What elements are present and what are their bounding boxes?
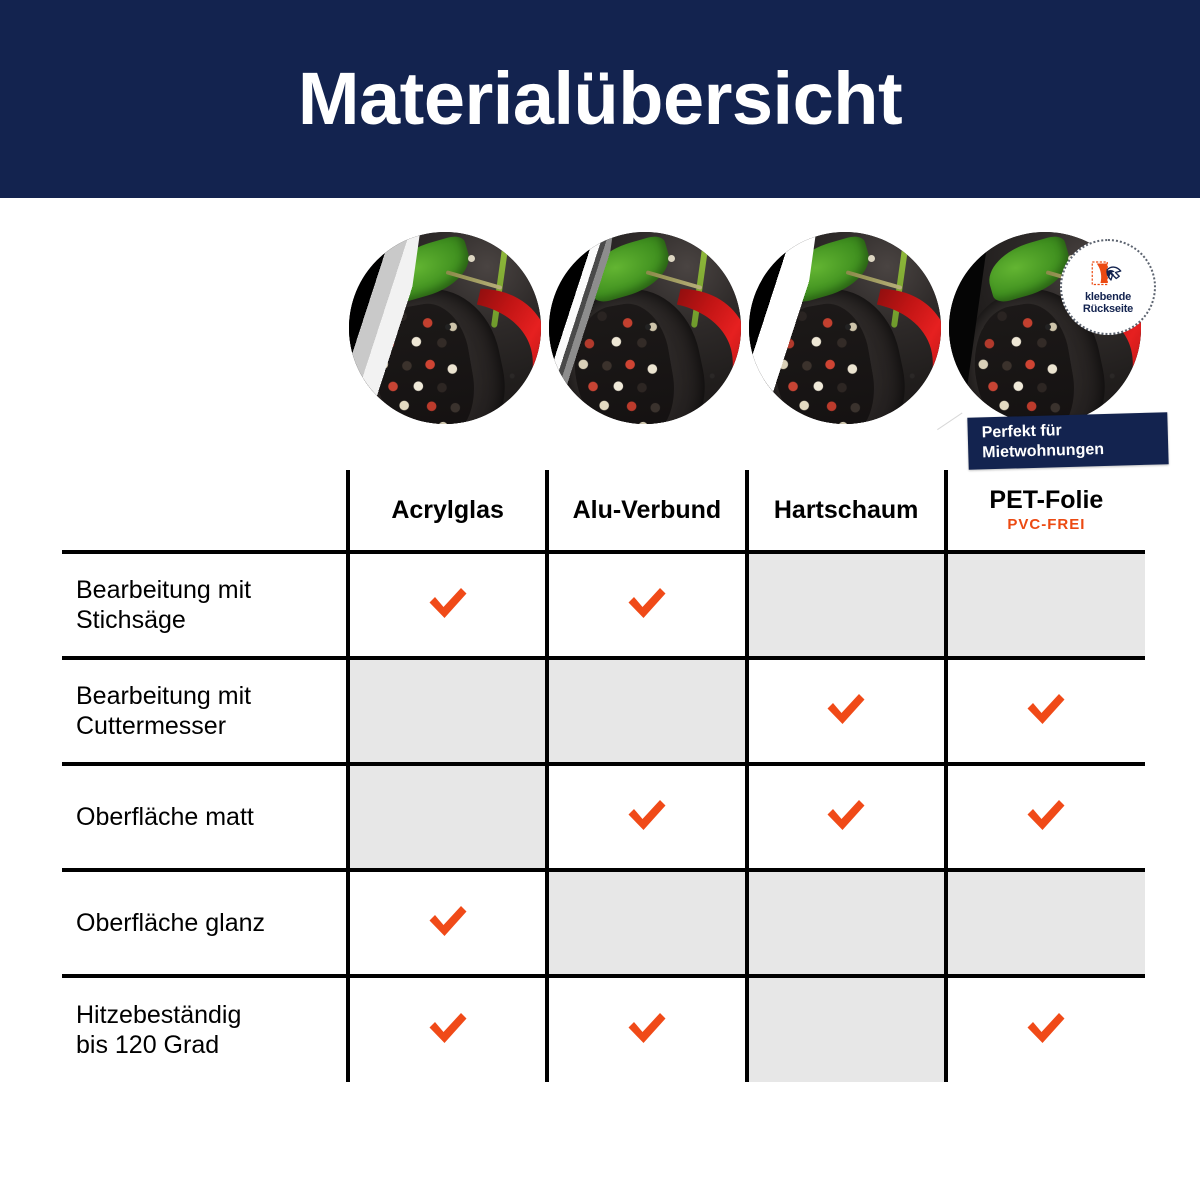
column-header-label: Hartschaum [749,497,944,523]
header-banner: Materialübersicht [0,0,1200,198]
matrix-cell-supported [547,764,746,870]
product-photo-hartschaum [749,232,941,424]
material-overview-infographic: Materialübersicht [0,0,1200,1200]
product-photo-alu-verbund [549,232,741,424]
matrix-cell-unsupported [348,764,547,870]
matrix-cell-supported [747,764,946,870]
table-body: Bearbeitung mitStichsägeBearbeitung mitC… [62,552,1145,1082]
check-icon [625,585,669,621]
row-label: Bearbeitung mitCuttermesser [62,658,348,764]
table-row: Oberfläche matt [62,764,1145,870]
column-header-pet-folie: PET-Folie PVC-FREI [946,470,1145,552]
matrix-cell-unsupported [747,976,946,1082]
pvc-free-badge: PVC-FREI [948,516,1145,533]
matrix-cell-unsupported [747,552,946,658]
preview-hartschaum [749,232,941,424]
matrix-cell-supported [747,658,946,764]
row-label-line2: bis 120 Grad [76,1030,336,1060]
check-icon [1024,1010,1068,1046]
check-icon [426,585,470,621]
row-label: Bearbeitung mitStichsäge [62,552,348,658]
matrix-cell-supported [547,976,746,1082]
row-label-line2: Cuttermesser [76,711,336,741]
matrix-cell-unsupported [348,658,547,764]
matrix-cell-supported [946,764,1145,870]
check-icon [824,797,868,833]
spice-scene-image [549,232,741,424]
spice-scene-image [349,232,541,424]
column-header-label: Alu-Verbund [549,497,744,523]
matrix-cell-unsupported [747,870,946,976]
column-header-acrylglas: Acrylglas [348,470,547,552]
table-header-row: Acrylglas Alu-Verbund Hartschaum PET-Fol… [62,470,1145,552]
peel-sticker-icon [1090,259,1126,289]
matrix-cell-supported [348,552,547,658]
table-row: Bearbeitung mitCuttermesser [62,658,1145,764]
matrix-cell-unsupported [547,870,746,976]
product-photo-acrylglas [349,232,541,424]
check-icon [426,1010,470,1046]
column-header-alu-verbund: Alu-Verbund [547,470,746,552]
product-preview-row [0,232,1200,432]
row-label-line1: Oberfläche glanz [76,908,336,938]
preview-alu-verbund [549,232,741,424]
matrix-cell-unsupported [946,870,1145,976]
row-label: Hitzebeständigbis 120 Grad [62,976,348,1082]
rental-friendly-ribbon: Perfekt für Mietwohnungen [967,412,1168,470]
check-icon [824,691,868,727]
check-icon [426,903,470,939]
table-row: Oberfläche glanz [62,870,1145,976]
row-label-line2: Stichsäge [76,605,336,635]
matrix-cell-supported [348,976,547,1082]
matrix-cell-supported [946,976,1145,1082]
badge-text-line2: Rückseite [1083,303,1133,315]
matrix-cell-unsupported [547,658,746,764]
page-title: Materialübersicht [298,62,902,136]
matrix-cell-unsupported [946,552,1145,658]
matrix-cell-supported [348,870,547,976]
matrix-cell-supported [946,658,1145,764]
check-icon [1024,691,1068,727]
ribbon-line2: Mietwohnungen [982,438,1158,462]
column-header-label: Acrylglas [350,497,545,523]
row-label: Oberfläche matt [62,764,348,870]
row-label-line1: Bearbeitung mit [76,681,336,711]
table-row: Bearbeitung mitStichsäge [62,552,1145,658]
row-label-line1: Bearbeitung mit [76,575,336,605]
material-comparison-table: Acrylglas Alu-Verbund Hartschaum PET-Fol… [62,470,1145,1082]
matrix-cell-supported [547,552,746,658]
check-icon [625,1010,669,1046]
table-row: Hitzebeständigbis 120 Grad [62,976,1145,1082]
check-icon [625,797,669,833]
check-icon [1024,797,1068,833]
column-header-label: PET-Folie [948,487,1145,513]
column-header-hartschaum: Hartschaum [747,470,946,552]
adhesive-backing-badge: klebende Rückseite [1060,239,1156,335]
preview-acrylglas [349,232,541,424]
table-corner-cell [62,470,348,552]
spice-scene-image [749,232,941,424]
row-label-line1: Oberfläche matt [76,802,336,832]
badge-text-line1: klebende [1083,291,1133,303]
row-label-line1: Hitzebeständig [76,1000,336,1030]
row-label: Oberfläche glanz [62,870,348,976]
